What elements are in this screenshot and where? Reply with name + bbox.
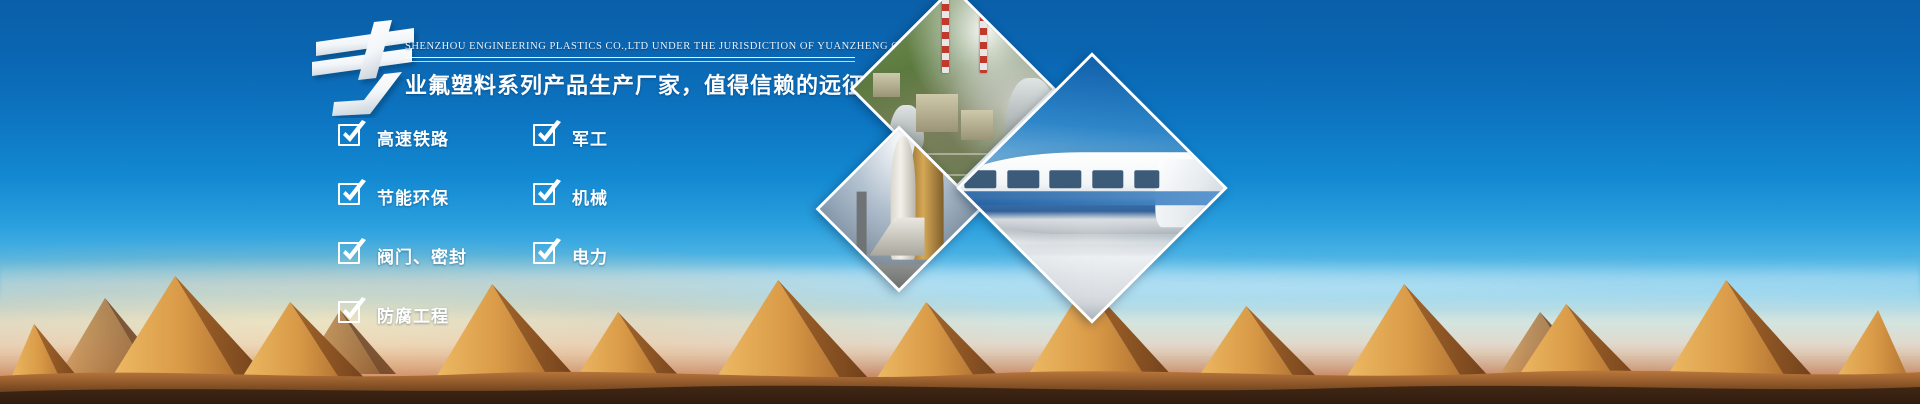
headline-block: SHENZHOU ENGINEERING PLASTICS CO.,LTD UN… [405, 40, 885, 100]
feature-label: 军工 [572, 125, 608, 150]
divider-rules [405, 57, 855, 62]
hero-banner: SHENZHOU ENGINEERING PLASTICS CO.,LTD UN… [0, 0, 1920, 404]
feature-item[interactable]: 电力 [533, 238, 608, 272]
divider-line-top [405, 57, 855, 58]
feature-label: 阀门、密封 [377, 243, 467, 268]
check-box-icon [338, 242, 364, 268]
feature-label: 节能环保 [377, 184, 449, 209]
photo-diamond-group [840, 10, 1240, 300]
feature-item[interactable]: 机械 [533, 179, 608, 213]
feature-item[interactable]: 高速铁路 [338, 120, 467, 154]
feature-label: 电力 [572, 243, 608, 268]
feature-item[interactable]: 阀门、密封 [338, 238, 467, 272]
check-box-icon [338, 124, 364, 150]
feature-label: 高速铁路 [377, 125, 449, 150]
check-box-icon [533, 124, 559, 150]
feature-column-right: 军工 机械 电力 [533, 120, 608, 297]
feature-label: 机械 [572, 184, 608, 209]
chinese-slogan: 业氟塑料系列产品生产厂家，值得信赖的远征品牌 [405, 68, 885, 100]
feature-item[interactable]: 军工 [533, 120, 608, 154]
feature-label: 防腐工程 [377, 302, 449, 327]
feature-item[interactable]: 节能环保 [338, 179, 467, 213]
feature-column-left: 高速铁路 节能环保 阀门、密封 [338, 120, 467, 356]
check-box-icon [533, 183, 559, 209]
divider-line-bottom [405, 61, 855, 62]
english-tagline: SHENZHOU ENGINEERING PLASTICS CO.,LTD UN… [405, 40, 885, 53]
check-box-icon [533, 242, 559, 268]
feature-item[interactable]: 防腐工程 [338, 297, 467, 331]
zhuan-character-logo [310, 18, 420, 118]
check-box-icon [338, 183, 364, 209]
check-box-icon [338, 301, 364, 327]
